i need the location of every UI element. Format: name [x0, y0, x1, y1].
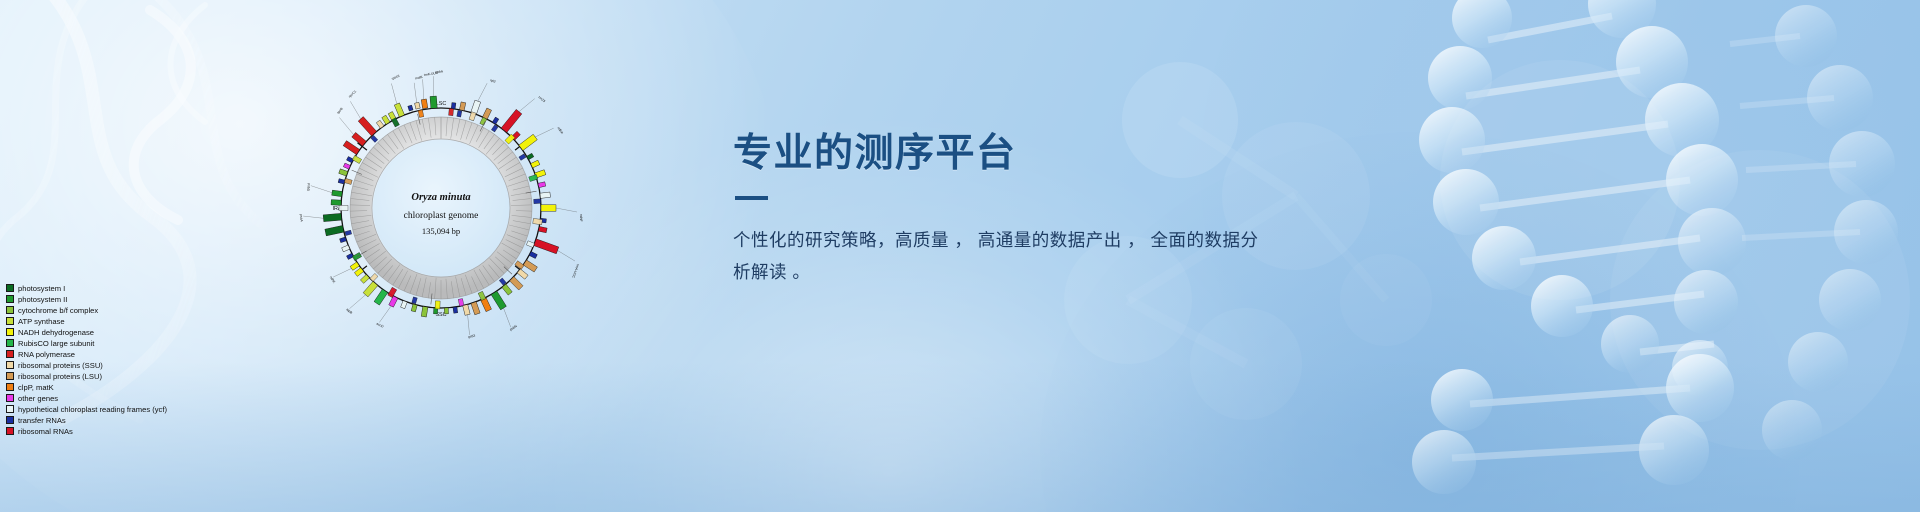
svg-text:rps16: rps16 — [391, 74, 400, 81]
banner-title: 专业的测序平台 — [733, 133, 1373, 176]
legend-item: photosystem II — [6, 294, 236, 305]
legend-swatch-rubisco-large-subunit — [6, 339, 14, 347]
region-label-lsc: LSC — [436, 101, 447, 107]
legend-swatch-ribosomal-rnas — [6, 427, 14, 435]
genome-subtitle: chloroplast genome — [404, 211, 479, 221]
svg-text:ndhA: ndhA — [556, 126, 564, 135]
svg-text:atpB: atpB — [345, 307, 353, 315]
legend-item: photosystem I — [6, 283, 236, 294]
legend-label: ribosomal RNAs — [18, 427, 73, 436]
legend-swatch-transfer-rnas — [6, 416, 14, 424]
legend-swatch-cytochrome-bf-complex — [6, 306, 14, 314]
legend-item: ATP synthase — [6, 316, 236, 327]
legend-label: NADH dehydrogenase — [18, 328, 94, 337]
banner-description: 个性化的研究策略，高质量 ， 高通量的数据产出 ， 全面的数据分析解读 。 — [733, 224, 1263, 288]
legend-item: ribosomal RNAs — [6, 426, 236, 437]
legend-label: ribosomal proteins (LSU) — [18, 372, 102, 381]
legend-swatch-photosystem-i — [6, 284, 14, 292]
legend-label: photosystem I — [18, 284, 65, 293]
svg-text:psbN: psbN — [509, 324, 518, 332]
legend-swatch-atp-synthase — [6, 317, 14, 325]
legend-item: ribosomal proteins (LSU) — [6, 371, 236, 382]
legend-swatch-nadh-dehydrogenase — [6, 328, 14, 336]
legend-item: clpP, matK — [6, 382, 236, 393]
svg-text:rpl2: rpl2 — [490, 78, 497, 84]
title-underline-rule — [735, 196, 768, 200]
legend-label: RubisCO large subunit — [18, 339, 94, 348]
legend-swatch-ribosomal-proteins-lsu — [6, 372, 14, 380]
svg-text:rrn23: rrn23 — [538, 95, 547, 103]
legend-item: hypothetical chloroplast reading frames … — [6, 404, 236, 415]
genome-map-legend: photosystem I photosystem II cytochrome … — [6, 283, 236, 437]
legend-item: other genes — [6, 393, 236, 404]
svg-text:rpoC1: rpoC1 — [348, 89, 357, 98]
legend-label: clpP, matK — [18, 383, 54, 392]
svg-text:trnA-UGC: trnA-UGC — [571, 264, 580, 280]
legend-label: RNA polymerase — [18, 350, 75, 359]
legend-swatch-hypothetical-reading-frames — [6, 405, 14, 413]
legend-swatch-ribosomal-proteins-ssu — [6, 361, 14, 369]
svg-text:accD: accD — [376, 322, 385, 329]
right-bead-helix — [1412, 0, 1910, 494]
legend-label: ATP synthase — [18, 317, 65, 326]
svg-text:psaA: psaA — [299, 214, 304, 223]
legend-label: other genes — [18, 394, 58, 403]
legend-label: ribosomal proteins (SSU) — [18, 361, 103, 370]
legend-label: cytochrome b/f complex — [18, 306, 98, 315]
genome-length: 135,094 bp — [422, 226, 460, 236]
legend-item: transfer RNAs — [6, 415, 236, 426]
legend-swatch-photosystem-ii — [6, 295, 14, 303]
svg-text:trnK-UUU: trnK-UUU — [424, 71, 439, 77]
svg-text:ndhF: ndhF — [579, 214, 583, 222]
legend-item: ribosomal proteins (SSU) — [6, 360, 236, 371]
chloroplast-genome-map: LSC IRB SSC IRA — [243, 10, 639, 406]
genome-map-svg: LSC IRB SSC IRA — [243, 10, 639, 406]
legend-item: RubisCO large subunit — [6, 338, 236, 349]
legend-swatch-clpp-matk — [6, 383, 14, 391]
legend-label: photosystem II — [18, 295, 67, 304]
legend-label: hypothetical chloroplast reading frames … — [18, 405, 167, 414]
legend-item: RNA polymerase — [6, 349, 236, 360]
legend-item: NADH dehydrogenase — [6, 327, 236, 338]
svg-text:ndhK: ndhK — [329, 275, 337, 284]
legend-swatch-other-genes — [6, 394, 14, 402]
legend-item: cytochrome b/f complex — [6, 305, 236, 316]
legend-label: transfer RNAs — [18, 416, 66, 425]
top-left-helix-fragment — [134, 5, 205, 220]
sequencing-platform-banner: LSC IRB SSC IRA — [0, 0, 1920, 512]
svg-text:rpl33: rpl33 — [468, 334, 476, 340]
legend-swatch-rna-polymerase — [6, 350, 14, 358]
organism-name: Oryza minuta — [411, 192, 470, 203]
svg-text:psbD: psbD — [306, 183, 311, 192]
banner-copy: 专业的测序平台 个性化的研究策略，高质量 ， 高通量的数据产出 ， 全面的数据分… — [733, 133, 1373, 288]
svg-text:rpoB: rpoB — [336, 106, 344, 115]
